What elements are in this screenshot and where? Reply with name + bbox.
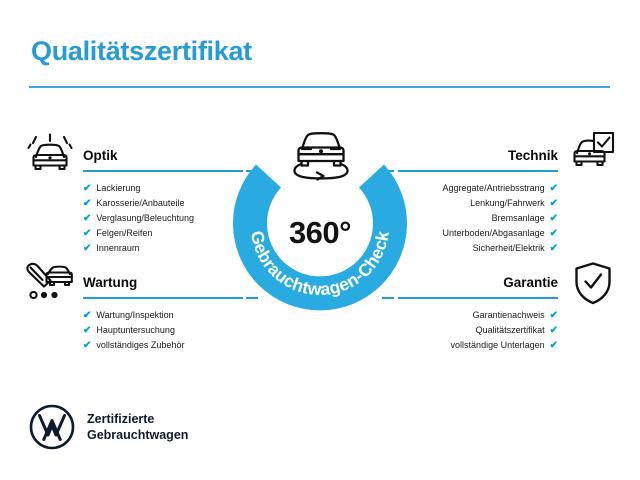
section-heading-technik: Technik	[398, 148, 558, 164]
list-item-label: Bremsanlage	[492, 211, 545, 226]
list-item-label: Garantienachweis	[473, 308, 545, 323]
check-icon: ✔	[550, 181, 558, 196]
wrench-car-icon	[24, 262, 74, 309]
list-item-label: Lackierung	[96, 181, 140, 196]
section-divider-optik	[83, 170, 243, 172]
list-item-label: vollständige Unterlagen	[451, 338, 545, 353]
list-item: ✔ Karosserie/Anbauteile	[83, 196, 243, 211]
list-item: ✔ Lackierung	[83, 181, 243, 196]
car-front-rotate-icon	[285, 126, 357, 188]
list-item: vollständige Unterlagen ✔	[398, 338, 558, 353]
checklist-garantie: Garantienachweis ✔ Qualitätszertifikat ✔…	[398, 308, 558, 353]
section-heading-wartung: Wartung	[83, 275, 243, 291]
check-icon: ✔	[83, 338, 91, 353]
list-item-label: Sicherheit/Elektrik	[473, 241, 545, 256]
section-divider-technik	[398, 170, 558, 172]
check-icon: ✔	[83, 211, 91, 226]
section-optik: Optik ✔ Lackierung ✔ Karosserie/Anbautei…	[83, 148, 243, 256]
footer-brand-text: Zertifizierte Gebrauchtwagen	[87, 411, 188, 443]
car-shine-icon	[27, 133, 73, 180]
check-icon: ✔	[550, 308, 558, 323]
list-item-label: Aggregate/Antriebsstrang	[443, 181, 545, 196]
check-icon: ✔	[550, 323, 558, 338]
list-item-label: Verglasung/Beleuchtung	[96, 211, 194, 226]
list-item: ✔ Innenraum	[83, 241, 243, 256]
list-item-label: Qualitätszertifikat	[476, 323, 545, 338]
page-title: Qualitätszertifikat	[31, 36, 252, 67]
list-item-label: Wartung/Inspektion	[96, 308, 173, 323]
check-icon: ✔	[550, 211, 558, 226]
section-heading-garantie: Garantie	[398, 275, 558, 291]
list-item: ✔ Wartung/Inspektion	[83, 308, 243, 323]
list-item: Lenkung/Fahrwerk ✔	[398, 196, 558, 211]
check-icon: ✔	[83, 226, 91, 241]
check-icon: ✔	[83, 308, 91, 323]
certificate-page: Qualitätszertifikat	[0, 0, 640, 480]
footer-line-2: Gebrauchtwagen	[87, 427, 188, 443]
section-divider-garantie	[398, 297, 558, 299]
section-heading-optik: Optik	[83, 148, 243, 164]
section-garantie: Garantie Garantienachweis ✔ Qualitätszer…	[398, 275, 558, 353]
check-icon: ✔	[550, 241, 558, 256]
title-divider	[29, 86, 610, 88]
list-item-label: vollständiges Zubehör	[96, 338, 184, 353]
list-item: ✔ Felgen/Reifen	[83, 226, 243, 241]
section-technik: Technik Aggregate/Antriebsstrang ✔ Lenku…	[398, 148, 558, 256]
footer-brand: Zertifizierte Gebrauchtwagen	[29, 404, 188, 450]
list-item: Aggregate/Antriebsstrang ✔	[398, 181, 558, 196]
check-icon: ✔	[83, 241, 91, 256]
check-icon: ✔	[550, 338, 558, 353]
shield-check-icon	[573, 261, 613, 310]
checklist-technik: Aggregate/Antriebsstrang ✔ Lenkung/Fahrw…	[398, 181, 558, 256]
checklist-optik: ✔ Lackierung ✔ Karosserie/Anbauteile ✔ V…	[83, 181, 243, 256]
footer-line-1: Zertifizierte	[87, 411, 188, 427]
list-item: Sicherheit/Elektrik ✔	[398, 241, 558, 256]
list-item-label: Innenraum	[96, 241, 139, 256]
car-checkbox-icon	[567, 131, 615, 180]
check-icon: ✔	[83, 196, 91, 211]
list-item: Qualitätszertifikat ✔	[398, 323, 558, 338]
list-item: Unterboden/Abgasanlage ✔	[398, 226, 558, 241]
checklist-wartung: ✔ Wartung/Inspektion ✔ Hauptuntersuchung…	[83, 308, 243, 353]
section-divider-wartung	[83, 297, 243, 299]
badge-360-gebrauchtwagen-check: Gebrauchtwagen-Check 360°	[232, 138, 408, 314]
list-item-label: Karosserie/Anbauteile	[96, 196, 184, 211]
check-icon: ✔	[550, 226, 558, 241]
list-item-label: Felgen/Reifen	[96, 226, 152, 241]
check-icon: ✔	[83, 323, 91, 338]
check-icon: ✔	[83, 181, 91, 196]
check-icon: ✔	[550, 196, 558, 211]
vw-logo-icon	[29, 404, 75, 450]
list-item: ✔ Verglasung/Beleuchtung	[83, 211, 243, 226]
list-item: ✔ Hauptuntersuchung	[83, 323, 243, 338]
list-item: Bremsanlage ✔	[398, 211, 558, 226]
list-item: Garantienachweis ✔	[398, 308, 558, 323]
list-item-label: Lenkung/Fahrwerk	[470, 196, 545, 211]
list-item: ✔ vollständiges Zubehör	[83, 338, 243, 353]
list-item-label: Unterboden/Abgasanlage	[443, 226, 545, 241]
list-item-label: Hauptuntersuchung	[96, 323, 175, 338]
section-wartung: Wartung ✔ Wartung/Inspektion ✔ Hauptunte…	[83, 275, 243, 353]
